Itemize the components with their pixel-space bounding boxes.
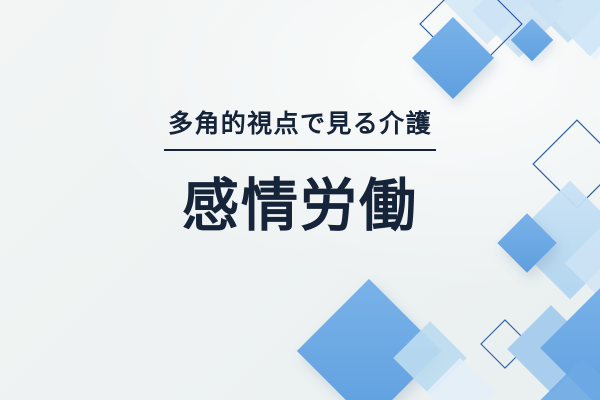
subtitle-container: 多角的視点で見る介護 <box>0 108 600 151</box>
main-title-container: 感情労働 <box>0 174 600 240</box>
title-slide: 多角的視点で見る介護 感情労働 <box>0 0 600 400</box>
slide-main-title: 感情労働 <box>182 174 418 240</box>
slide-subtitle: 多角的視点で見る介護 <box>164 108 436 151</box>
title-text-block: 多角的視点で見る介護 感情労働 <box>0 0 600 400</box>
